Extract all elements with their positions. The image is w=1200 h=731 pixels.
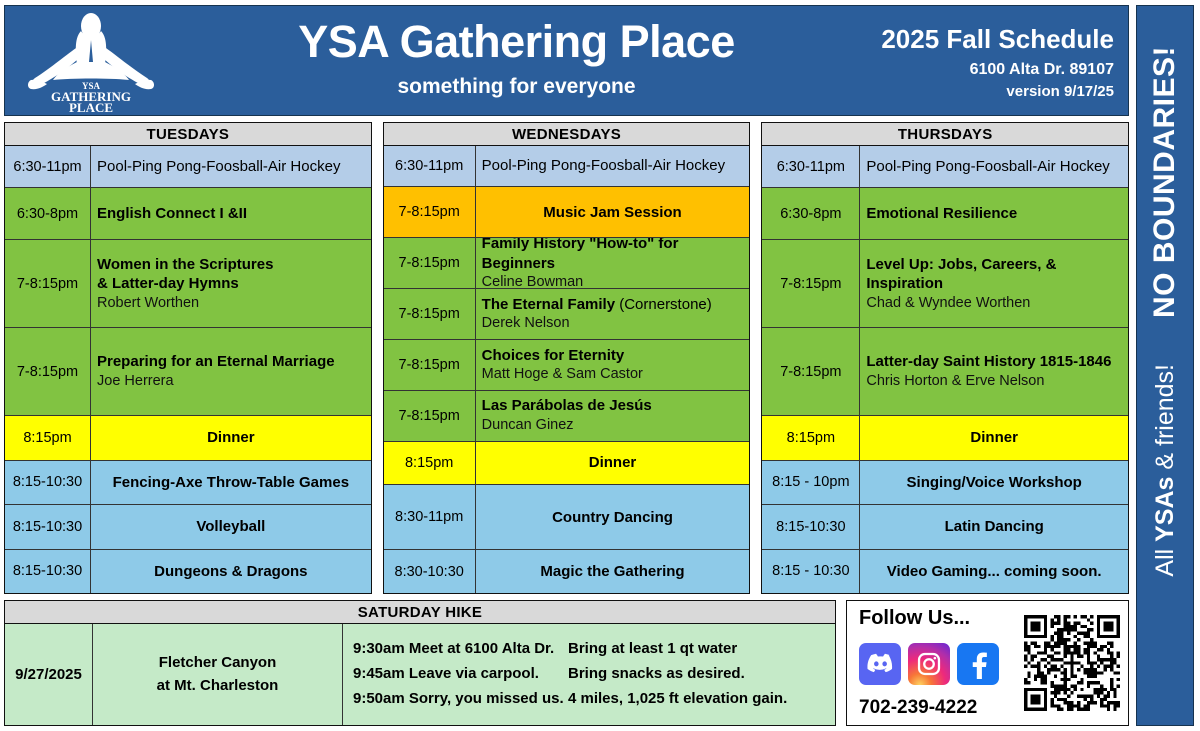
address-label: 6100 Alta Dr. 89107: [858, 61, 1114, 79]
row-description: Fencing-Axe Throw-Table Games: [91, 461, 371, 504]
schedule-row[interactable]: 7-8:15pmFamily History "How-to" for Begi…: [384, 238, 750, 289]
schedule-row[interactable]: 8:30-11pmCountry Dancing: [384, 485, 750, 550]
hike-details: 9:30am Meet at 6100 Alta Dr.Bring at lea…: [343, 624, 835, 725]
row-title-text: Singing/Voice Workshop: [907, 474, 1082, 491]
row-title: Video Gaming... coming soon.: [887, 562, 1102, 582]
day-column-wednesdays: WEDNESDAYS6:30-11pmPool-Ping Pong-Foosba…: [383, 122, 751, 594]
row-description: Country Dancing: [476, 485, 750, 549]
row-title: Latter-day Saint History 1815-1846: [866, 352, 1122, 372]
day-column-tuesdays: TUESDAYS6:30-11pmPool-Ping Pong-Foosball…: [4, 122, 372, 594]
row-title: Dungeons & Dragons: [154, 562, 307, 582]
row-time: 7-8:15pm: [384, 391, 476, 441]
row-time: 7-8:15pm: [384, 289, 476, 339]
row-title: Dinner: [589, 453, 637, 473]
schedule-row[interactable]: 7-8:15pmChoices for EternityMatt Hoge & …: [384, 340, 750, 391]
row-description: Singing/Voice Workshop: [860, 461, 1128, 504]
schedule-row[interactable]: 6:30-11pmPool-Ping Pong-Foosball-Air Hoc…: [384, 146, 750, 187]
schedule-row[interactable]: 7-8:15pmThe Eternal Family (Cornerstone)…: [384, 289, 750, 340]
follow-us-left: Follow Us...: [859, 607, 1024, 719]
row-title: Pool-Ping Pong-Foosball-Air Hockey: [482, 156, 744, 176]
hike-note-right: Bring at least 1 qt water: [568, 637, 835, 662]
banner-all-ysas-emphasis: YSAs: [1151, 477, 1179, 542]
row-title-text: Dungeons & Dragons: [154, 563, 307, 580]
row-title: Family History "How-to" for Beginners: [482, 238, 744, 273]
row-title-text: Women in the Scriptures: [97, 256, 273, 273]
row-title: Fencing-Axe Throw-Table Games: [113, 473, 349, 493]
row-title-text: Latter-day Saint History 1815-1846: [866, 353, 1111, 370]
hike-note-left: 9:30am Meet at 6100 Alta Dr.: [353, 637, 568, 662]
row-time: 8:15 - 10:30: [762, 550, 860, 593]
facebook-icon[interactable]: [957, 643, 999, 685]
row-time: 6:30-8pm: [762, 188, 860, 239]
page-title: YSA Gathering Place: [175, 18, 858, 65]
schedule-row[interactable]: 8:15pmDinner: [384, 442, 750, 486]
row-title: The Eternal Family (Cornerstone): [482, 295, 744, 315]
banner-all-ysas-prefix: All: [1151, 542, 1179, 577]
schedule-row[interactable]: 8:15pmDinner: [762, 416, 1128, 460]
row-title: Dinner: [207, 428, 255, 448]
saturday-hike-body: 9/27/2025 Fletcher Canyon at Mt. Charles…: [5, 624, 835, 725]
row-title: Pool-Ping Pong-Foosball-Air Hockey: [866, 157, 1122, 177]
row-title: Women in the Scriptures: [97, 255, 365, 275]
schedule-poster: YSA GATHERING PLACE YSA Gathering Place …: [0, 0, 1200, 731]
row-presenter: Derek Nelson: [482, 314, 744, 333]
row-title-text: Emotional Resilience: [866, 205, 1017, 222]
hike-location-line2: at Mt. Charleston: [157, 675, 279, 698]
row-description: Preparing for an Eternal MarriageJoe Her…: [91, 328, 371, 415]
row-title: Pool-Ping Pong-Foosball-Air Hockey: [97, 157, 365, 177]
row-title-text: Latin Dancing: [945, 518, 1044, 535]
phone-number: 702-239-4222: [859, 697, 1024, 719]
schedule-row[interactable]: 8:15-10:30Dungeons & Dragons: [5, 550, 371, 593]
row-title: Singing/Voice Workshop: [907, 473, 1082, 493]
schedule-row[interactable]: 8:15-10:30Volleyball: [5, 505, 371, 549]
row-time: 8:15-10:30: [762, 505, 860, 548]
schedule-row[interactable]: 6:30-8pmEmotional Resilience: [762, 188, 1128, 240]
row-description: Women in the Scriptures& Latter-day Hymn…: [91, 240, 371, 327]
saturday-hike-panel: SATURDAY HIKE 9/27/2025 Fletcher Canyon …: [4, 600, 836, 726]
schedule-row[interactable]: 8:15 - 10:30Video Gaming... coming soon.: [762, 550, 1128, 593]
follow-us-title: Follow Us...: [859, 607, 1024, 630]
row-presenter: Matt Hoge & Sam Castor: [482, 365, 744, 384]
weekly-schedule: TUESDAYS6:30-11pmPool-Ping Pong-Foosball…: [4, 122, 1129, 594]
row-description: Pool-Ping Pong-Foosball-Air Hockey: [91, 146, 371, 187]
schedule-row[interactable]: 6:30-11pmPool-Ping Pong-Foosball-Air Hoc…: [5, 146, 371, 188]
bottom-section: SATURDAY HIKE 9/27/2025 Fletcher Canyon …: [4, 600, 1129, 726]
row-time: 6:30-11pm: [384, 146, 476, 186]
row-title: Volleyball: [196, 517, 265, 537]
hike-note-right: 4 miles, 1,025 ft elevation gain.: [568, 687, 835, 712]
row-title-text: Pool-Ping Pong-Foosball-Air Hockey: [97, 158, 340, 175]
row-description: Dinner: [476, 442, 750, 485]
page-tagline: something for everyone: [175, 75, 858, 99]
row-title-text: Las Parábolas de Jesús: [482, 397, 652, 414]
banner-all-ysas: All YSAs & friends!: [1151, 364, 1180, 577]
discord-icon[interactable]: [859, 643, 901, 685]
christ-silhouette-icon: YSA GATHERING PLACE: [27, 10, 155, 114]
day-rows: 6:30-11pmPool-Ping Pong-Foosball-Air Hoc…: [762, 146, 1128, 593]
row-description: Choices for EternityMatt Hoge & Sam Cast…: [476, 340, 750, 390]
row-description: The Eternal Family (Cornerstone)Derek Ne…: [476, 289, 750, 339]
day-rows: 6:30-11pmPool-Ping Pong-Foosball-Air Hoc…: [384, 146, 750, 593]
row-time: 8:15-10:30: [5, 461, 91, 504]
row-title-text: Preparing for an Eternal Marriage: [97, 353, 335, 370]
row-title: Magic the Gathering: [540, 562, 684, 582]
row-title-text: Magic the Gathering: [540, 563, 684, 580]
day-column-thursdays: THURSDAYS6:30-11pmPool-Ping Pong-Foosbal…: [761, 122, 1129, 594]
row-title-text: The Eternal Family: [482, 296, 615, 313]
row-title-text: Family History "How-to" for Beginners: [482, 238, 679, 271]
hike-date: 9/27/2025: [5, 624, 93, 725]
row-time: 6:30-11pm: [5, 146, 91, 187]
row-title-text: Music Jam Session: [543, 204, 681, 221]
schedule-row[interactable]: 8:15pmDinner: [5, 416, 371, 460]
hike-note-line: 9:50am Sorry, you missed us.4 miles, 1,0…: [353, 687, 835, 712]
schedule-row[interactable]: 6:30-8pmEnglish Connect I &II: [5, 188, 371, 240]
row-description: Magic the Gathering: [476, 550, 750, 593]
day-header: WEDNESDAYS: [384, 123, 750, 146]
row-description: English Connect I &II: [91, 188, 371, 239]
row-description: Latter-day Saint History 1815-1846Chris …: [860, 328, 1128, 415]
row-time: 7-8:15pm: [762, 240, 860, 327]
row-time: 8:15pm: [384, 442, 476, 485]
social-links: [859, 643, 1024, 685]
schedule-row[interactable]: 7-8:15pmLevel Up: Jobs, Careers, & Inspi…: [762, 240, 1128, 328]
row-title-text: Country Dancing: [552, 509, 673, 526]
row-time: 8:15-10:30: [5, 550, 91, 593]
qr-code-icon[interactable]: [1024, 615, 1120, 711]
row-time: 7-8:15pm: [384, 187, 476, 237]
row-title-text: Video Gaming... coming soon.: [887, 563, 1102, 580]
logo: YSA GATHERING PLACE: [5, 8, 175, 113]
row-time: 8:15 - 10pm: [762, 461, 860, 504]
row-presenter: Chad & Wyndee Worthen: [866, 294, 1122, 313]
row-time: 8:15pm: [762, 416, 860, 459]
row-time: 7-8:15pm: [762, 328, 860, 415]
hike-note-line: 9:45am Leave via carpool.Bring snacks as…: [353, 662, 835, 687]
row-time: 6:30-8pm: [5, 188, 91, 239]
row-title-text: Dinner: [589, 454, 637, 471]
day-header: TUESDAYS: [5, 123, 371, 146]
row-time: 7-8:15pm: [384, 238, 476, 288]
hike-note-right: Bring snacks as desired.: [568, 662, 835, 687]
logo-text-place: PLACE: [69, 100, 113, 114]
row-presenter: Joe Herrera: [97, 372, 365, 391]
title-block: YSA Gathering Place something for everyo…: [175, 18, 858, 98]
row-title: English Connect I &II: [97, 204, 365, 224]
schedule-row[interactable]: 8:15 - 10pmSinging/Voice Workshop: [762, 461, 1128, 505]
header-meta: 2025 Fall Schedule 6100 Alta Dr. 89107 v…: [858, 25, 1128, 100]
row-presenter: Chris Horton & Erve Nelson: [866, 372, 1122, 391]
row-presenter: Duncan Ginez: [482, 416, 744, 435]
row-presenter: Celine Bowman: [482, 273, 744, 289]
page-header: YSA GATHERING PLACE YSA Gathering Place …: [4, 5, 1129, 116]
row-time: 8:15pm: [5, 416, 91, 459]
schedule-row[interactable]: 7-8:15pmLatter-day Saint History 1815-18…: [762, 328, 1128, 416]
row-description: Dungeons & Dragons: [91, 550, 371, 593]
row-title-text: Dinner: [207, 429, 255, 446]
schedule-row[interactable]: 7-8:15pmLas Parábolas de JesúsDuncan Gin…: [384, 391, 750, 442]
banner-all-ysas-suffix: & friends!: [1151, 364, 1179, 477]
row-presenter: Robert Worthen: [97, 294, 365, 313]
schedule-row[interactable]: 7-8:15pmMusic Jam Session: [384, 187, 750, 238]
row-title-text: Dinner: [970, 429, 1018, 446]
row-description: Dinner: [860, 416, 1128, 459]
row-title: Latin Dancing: [945, 517, 1044, 537]
row-time: 7-8:15pm: [384, 340, 476, 390]
row-title-line2: & Latter-day Hymns: [97, 274, 365, 294]
row-title: Las Parábolas de Jesús: [482, 396, 744, 416]
schedule-row[interactable]: 8:15-10:30Fencing-Axe Throw-Table Games: [5, 461, 371, 505]
row-description: Pool-Ping Pong-Foosball-Air Hockey: [476, 146, 750, 186]
row-time: 7-8:15pm: [5, 328, 91, 415]
season-label: 2025 Fall Schedule: [858, 25, 1114, 55]
row-description: Dinner: [91, 416, 371, 459]
row-title-text: English Connect I &II: [97, 205, 247, 222]
row-title-text: Volleyball: [196, 518, 265, 535]
banner-no-boundaries: NO BOUNDARIES!: [1148, 46, 1182, 318]
row-description: Music Jam Session: [476, 187, 750, 237]
row-title-text: Level Up: Jobs, Careers, & Inspiration: [866, 256, 1056, 293]
row-title: Music Jam Session: [543, 203, 681, 223]
hike-note-left: 9:45am Leave via carpool.: [353, 662, 568, 687]
side-banner: NO BOUNDARIES! All YSAs & friends!: [1136, 5, 1194, 726]
row-description: Volleyball: [91, 505, 371, 548]
row-time: 6:30-11pm: [762, 146, 860, 187]
row-title: Dinner: [970, 428, 1018, 448]
row-title: Choices for Eternity: [482, 346, 744, 366]
row-title-text: Fencing-Axe Throw-Table Games: [113, 474, 349, 491]
row-time: 8:30-10:30: [384, 550, 476, 593]
row-title-text: Pool-Ping Pong-Foosball-Air Hockey: [482, 157, 725, 174]
row-description: Video Gaming... coming soon.: [860, 550, 1128, 593]
row-time: 8:15-10:30: [5, 505, 91, 548]
row-description: Family History "How-to" for BeginnersCel…: [476, 238, 750, 288]
version-label: version 9/17/25: [858, 83, 1114, 100]
day-header: THURSDAYS: [762, 123, 1128, 146]
row-time: 8:30-11pm: [384, 485, 476, 549]
schedule-row[interactable]: 8:30-10:30Magic the Gathering: [384, 550, 750, 593]
day-rows: 6:30-11pmPool-Ping Pong-Foosball-Air Hoc…: [5, 146, 371, 593]
saturday-hike-heading: SATURDAY HIKE: [5, 601, 835, 624]
row-description: Latin Dancing: [860, 505, 1128, 548]
follow-us-panel: Follow Us...: [846, 600, 1129, 726]
instagram-icon[interactable]: [908, 643, 950, 685]
row-time: 7-8:15pm: [5, 240, 91, 327]
schedule-row[interactable]: 7-8:15pmWomen in the Scriptures& Latter-…: [5, 240, 371, 328]
hike-note-left: 9:50am Sorry, you missed us.: [353, 687, 568, 712]
row-title-text: Pool-Ping Pong-Foosball-Air Hockey: [866, 158, 1109, 175]
row-title: Level Up: Jobs, Careers, & Inspiration: [866, 255, 1122, 294]
hike-location-line1: Fletcher Canyon: [159, 652, 277, 675]
schedule-row[interactable]: 8:15-10:30Latin Dancing: [762, 505, 1128, 549]
row-description: Pool-Ping Pong-Foosball-Air Hockey: [860, 146, 1128, 187]
row-title: Emotional Resilience: [866, 204, 1122, 224]
row-title-suffix: (Cornerstone): [615, 296, 712, 313]
row-description: Level Up: Jobs, Careers, & InspirationCh…: [860, 240, 1128, 327]
hike-note-line: 9:30am Meet at 6100 Alta Dr.Bring at lea…: [353, 637, 835, 662]
row-description: Las Parábolas de JesúsDuncan Ginez: [476, 391, 750, 441]
row-title: Country Dancing: [552, 508, 673, 528]
row-title: Preparing for an Eternal Marriage: [97, 352, 365, 372]
row-title-text: Choices for Eternity: [482, 347, 625, 364]
schedule-row[interactable]: 6:30-11pmPool-Ping Pong-Foosball-Air Hoc…: [762, 146, 1128, 188]
hike-location: Fletcher Canyon at Mt. Charleston: [93, 624, 343, 725]
row-description: Emotional Resilience: [860, 188, 1128, 239]
schedule-row[interactable]: 7-8:15pmPreparing for an Eternal Marriag…: [5, 328, 371, 416]
